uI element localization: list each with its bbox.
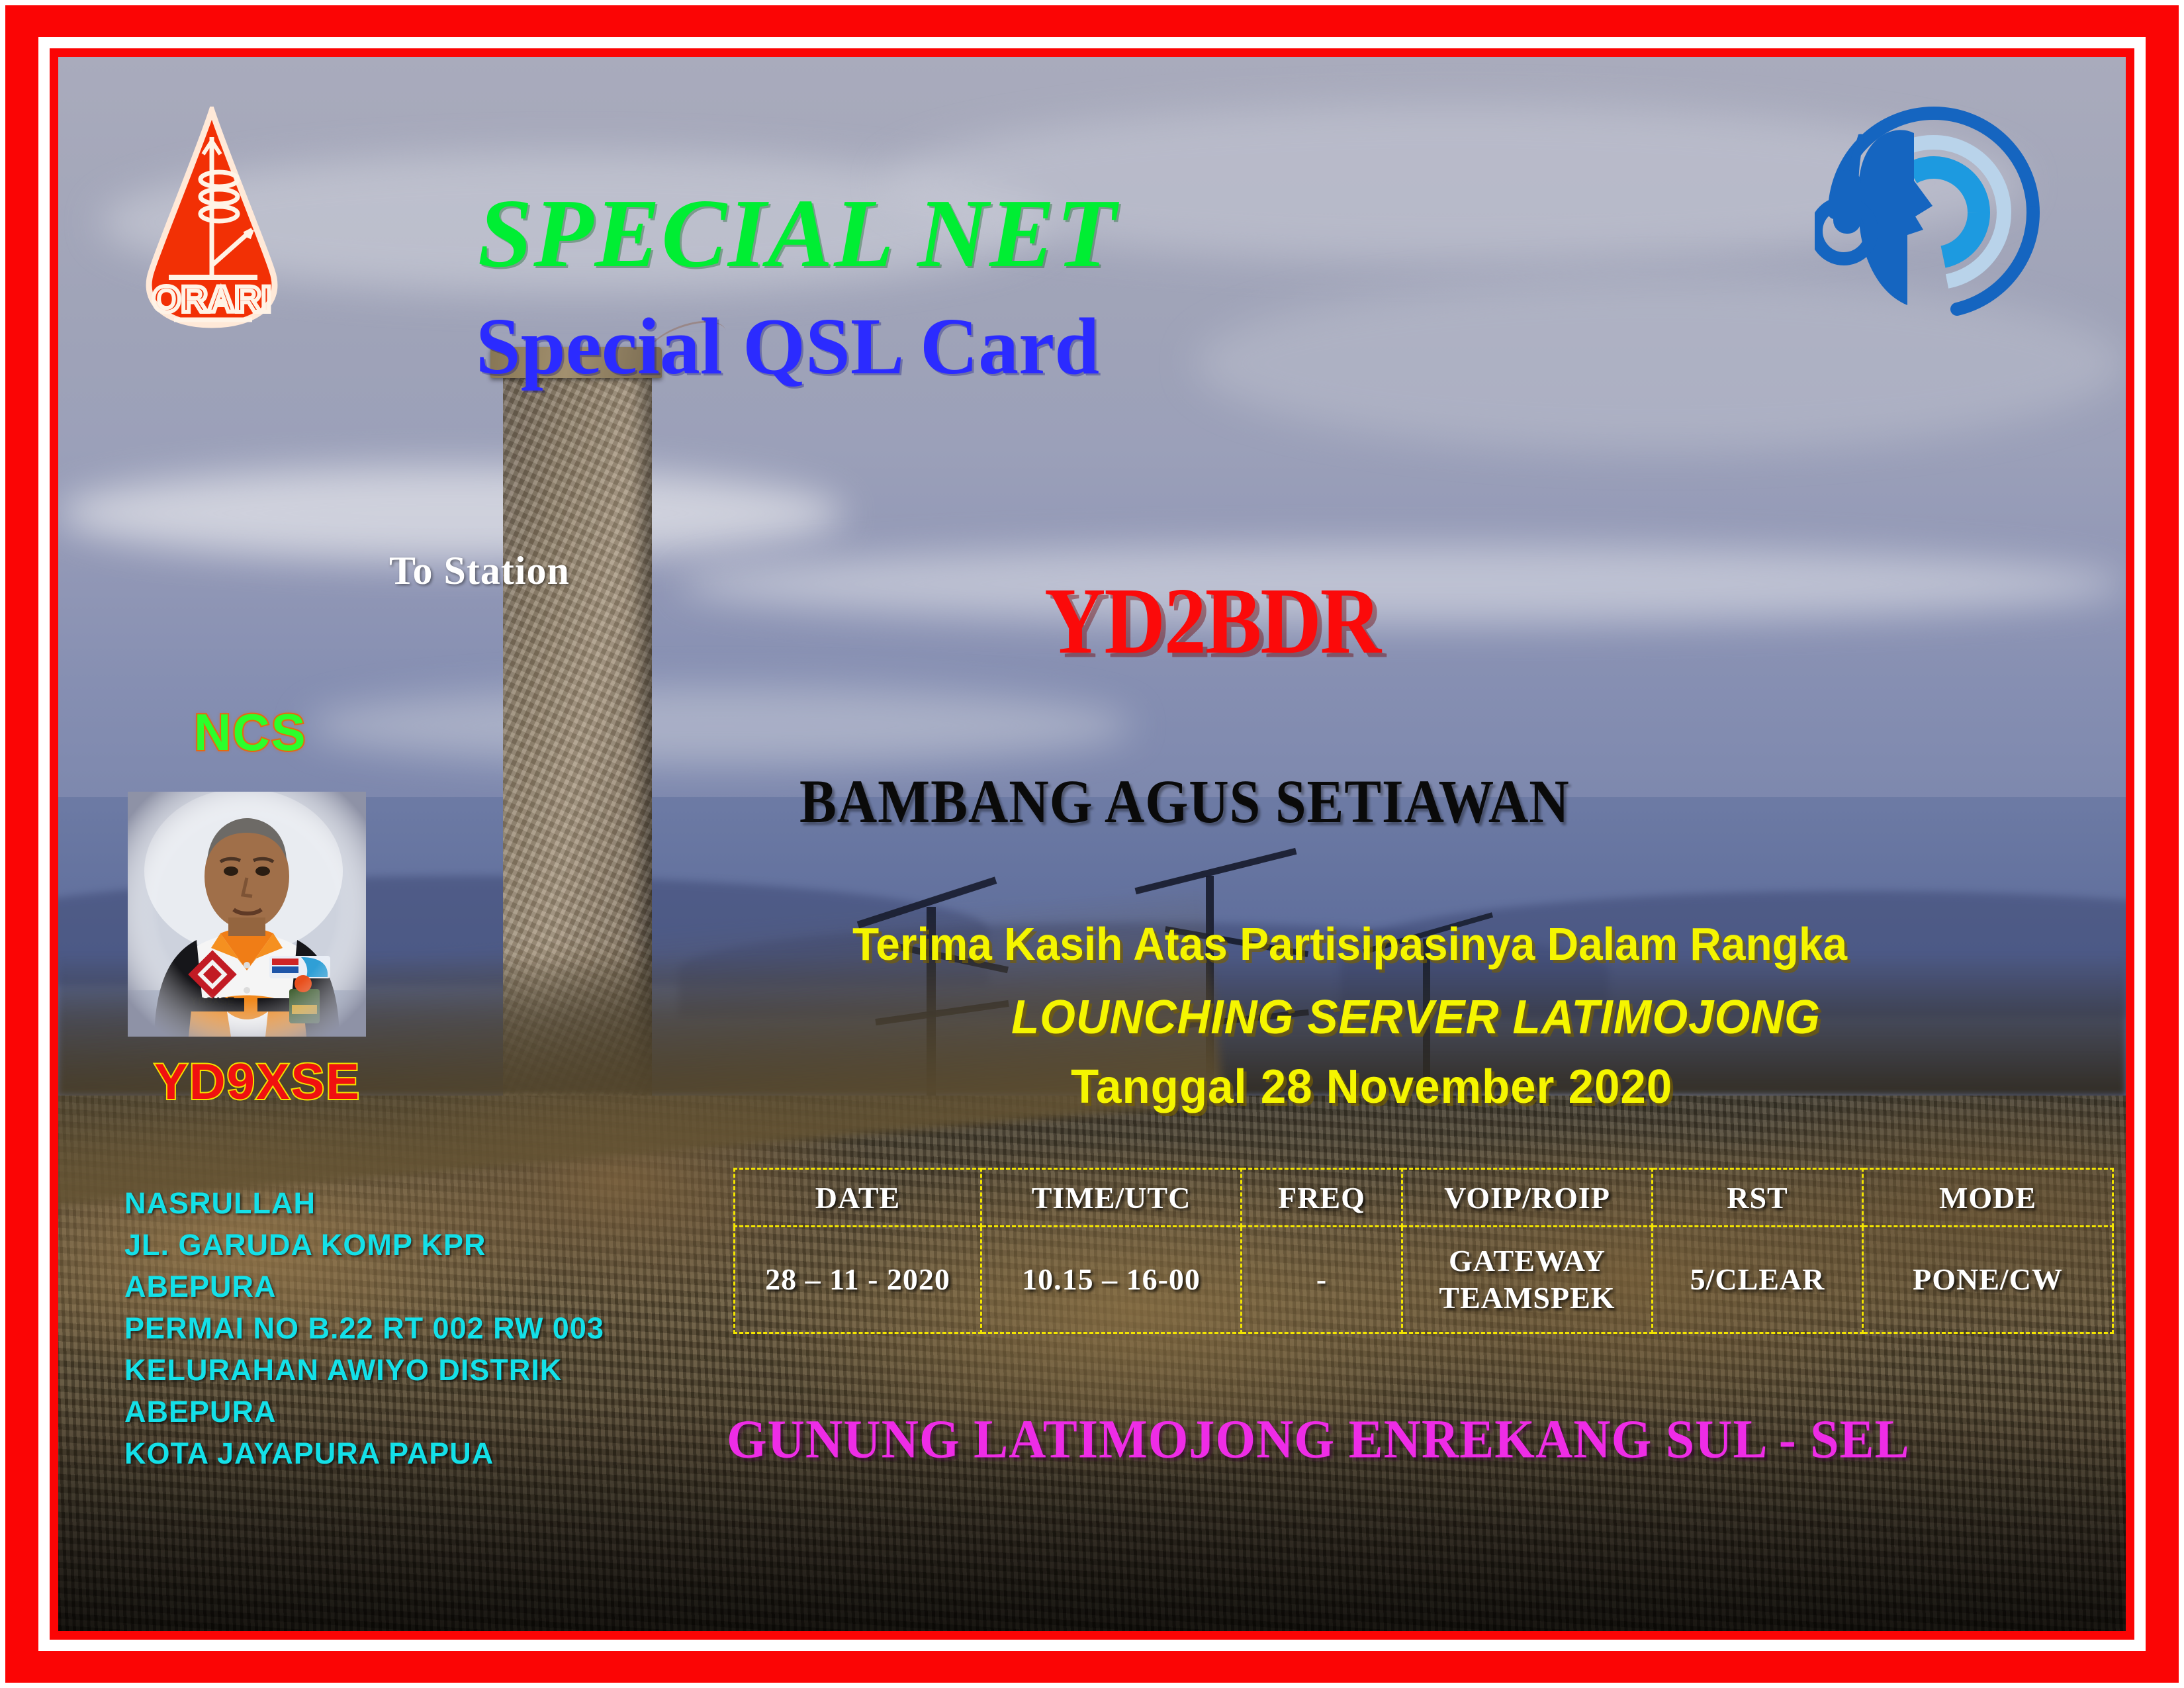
cloud — [678, 545, 2126, 624]
column-header-rst: RST — [1653, 1169, 1863, 1227]
station-callsign: YD2BDR — [1044, 567, 1380, 676]
column-header-mode: MODE — [1863, 1169, 2113, 1227]
thanks-line: Terima Kasih Atas Partisipasinya Dalam R… — [852, 917, 1847, 970]
column-header-date: DATE — [735, 1169, 981, 1227]
operator-name: BAMBANG AGUS SETIAWAN — [799, 767, 1570, 837]
table-header-row: DATE TIME/UTC FREQ VOIP/ROIP RST MODE — [735, 1169, 2113, 1227]
radio-headset-logo — [1815, 107, 2053, 318]
cell-mode: PONE/CW — [1863, 1227, 2113, 1333]
address-line: KOTA JAYAPURA PAPUA — [124, 1432, 604, 1474]
address-line: JL. GARUDA KOMP KPR — [124, 1224, 604, 1266]
cell-voip-line1: GATEWAY — [1403, 1243, 1651, 1280]
cell-voip: GATEWAY TEAMSPEK — [1402, 1227, 1653, 1333]
qsl-card: ORARI — [0, 0, 2184, 1688]
ncs-label: NCS — [194, 702, 307, 763]
cell-freq: - — [1242, 1227, 1402, 1333]
column-header-freq: FREQ — [1242, 1169, 1402, 1227]
event-date-line: Tanggal 28 November 2020 — [1071, 1060, 1672, 1114]
background-photo-mountain-summit: ORARI — [58, 57, 2126, 1631]
address-line: KELURAHAN AWIYO DISTRIK — [124, 1349, 604, 1391]
address-line: ABEPURA — [124, 1391, 604, 1432]
column-header-voip: VOIP/ROIP — [1402, 1169, 1653, 1227]
cell-time: 10.15 – 16-00 — [981, 1227, 1242, 1333]
ncs-operator-photo: YD9XSE — [128, 792, 366, 1037]
address-line: ABEPURA — [124, 1266, 604, 1307]
sender-address-block: NASRULLAH JL. GARUDA KOMP KPR ABEPURA PE… — [124, 1182, 604, 1474]
location-line: GUNUNG LATIMOJONG ENREKANG SUL - SEL — [727, 1407, 1910, 1470]
table-row: 28 – 11 - 2020 10.15 – 16-00 - GATEWAY T… — [735, 1227, 2113, 1333]
cloud — [306, 686, 1134, 765]
cloud — [58, 466, 844, 561]
page-title: SPECIAL NET — [478, 177, 1117, 290]
page-subtitle: Special QSL Card — [476, 301, 1099, 393]
address-line: NASRULLAH — [124, 1182, 604, 1224]
orari-logo: ORARI — [128, 107, 296, 328]
orari-logo-text: ORARI — [152, 278, 271, 320]
qso-log-table: DATE TIME/UTC FREQ VOIP/ROIP RST MODE 28… — [733, 1168, 2114, 1334]
address-line: PERMAI NO B.22 RT 002 RW 003 — [124, 1307, 604, 1349]
cell-voip-line2: TEAMSPEK — [1403, 1280, 1651, 1317]
ncs-callsign: YD9XSE — [154, 1053, 361, 1111]
cell-date: 28 – 11 - 2020 — [735, 1227, 981, 1333]
event-line: LOUNCHING SERVER LATIMOJONG — [1011, 990, 1821, 1045]
cell-rst: 5/CLEAR — [1653, 1227, 1863, 1333]
column-header-time: TIME/UTC — [981, 1169, 1242, 1227]
to-station-label: To Station — [389, 548, 570, 594]
